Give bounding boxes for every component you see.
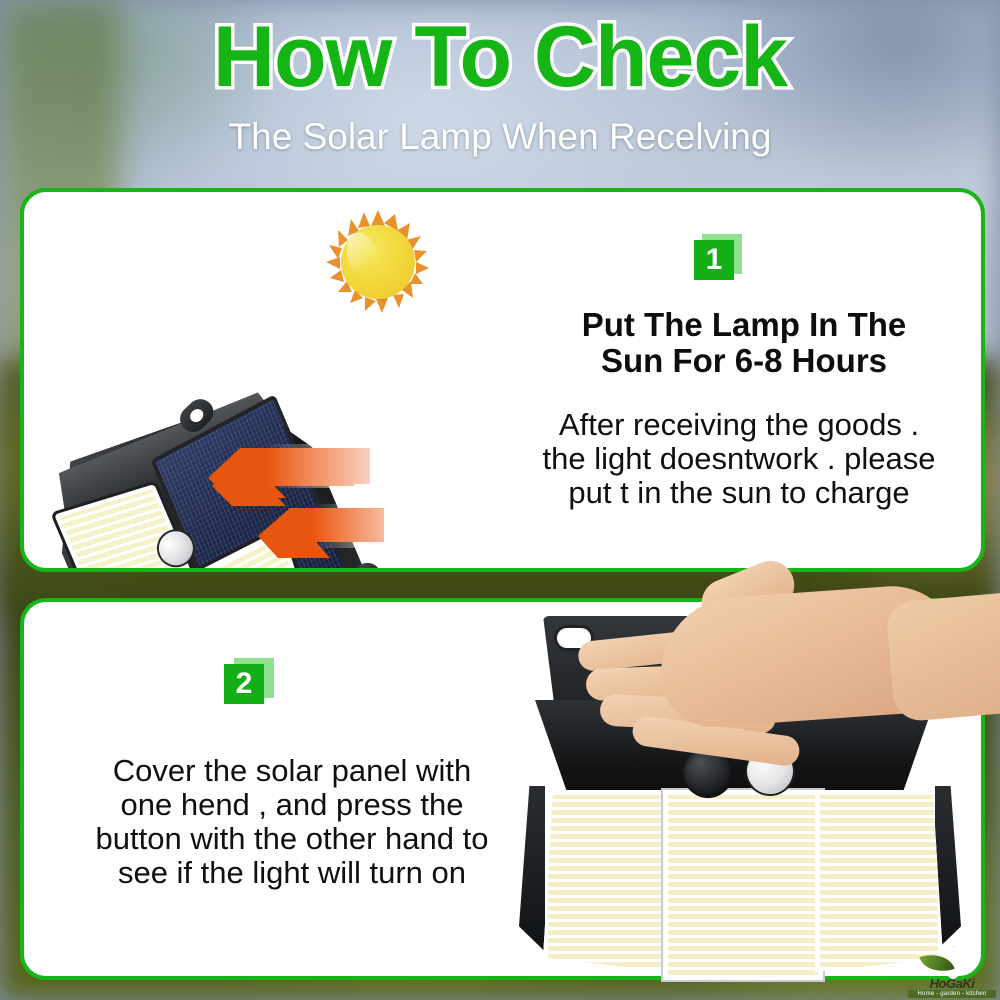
step-2-number: 2 [224,664,264,704]
step-2-body-line3: button with the other hand to [34,822,550,857]
step-2-body-line1: Cover the solar panel with [42,754,542,789]
lamp-side-left [519,786,545,966]
step-2-body-line2: one hend , and press the [42,788,542,823]
wrist [885,589,1000,722]
step-1-heading-line1: Put The Lamp In The [494,308,981,343]
sun-ray-glow [312,504,422,548]
header: How To Check The Solar Lamp When Recelvi… [0,0,1000,185]
brand-tagline: Home - garden - kitchen [908,990,996,998]
step-1-number: 1 [694,240,734,280]
step-1-card: 1 Put The Lamp In The Sun For 6-8 Hours … [20,188,985,572]
page-title: How To Check [0,14,1000,100]
brand-name: HoGaKi [908,976,996,991]
led-panel-right [815,790,943,972]
step-2-badge: 2 [224,658,270,704]
step-1-body-line2: the light doesntwork . please [479,442,981,477]
step-1-badge: 1 [694,234,740,280]
step-1-body-line1: After receiving the goods . [484,408,981,443]
brand-watermark: HoGaKi Home - garden - kitchen [908,946,996,996]
step-1-card-clip: 1 Put The Lamp In The Sun For 6-8 Hours … [24,192,981,568]
step-1-heading-line2: Sun For 6-8 Hours [494,344,981,379]
hand-image [540,582,1000,782]
sun-icon [326,210,430,314]
led-panel-center [663,790,823,980]
sun-ray-glow [266,444,396,488]
solar-lamp-angled-image [54,400,384,568]
led-panel-left [543,790,671,972]
page-subtitle: The Solar Lamp When Recelving [0,118,1000,155]
step-1-body-line3: put t in the sun to charge [484,476,981,511]
step-2-body-line4: see if the light will turn on [42,856,542,891]
infographic-canvas: How To Check The Solar Lamp When Recelvi… [0,0,1000,1000]
